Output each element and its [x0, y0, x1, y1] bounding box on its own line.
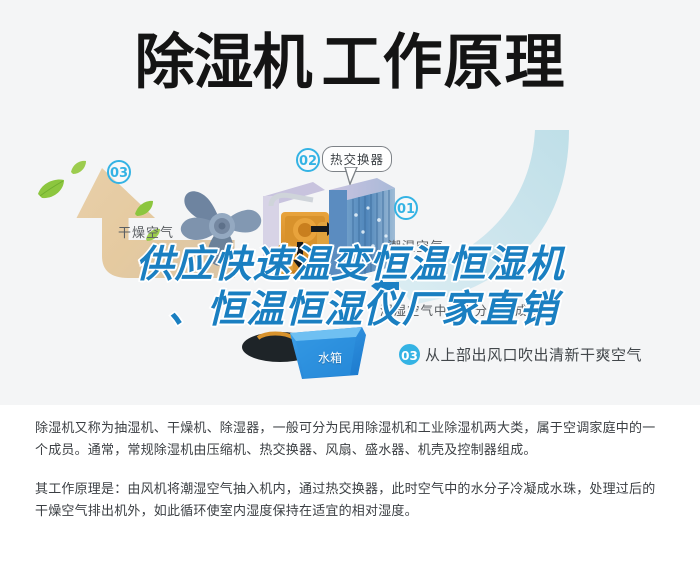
badge-step-01: 01 — [394, 196, 418, 220]
callout-pointer-icon — [344, 167, 358, 185]
leaf-icon — [70, 160, 87, 175]
label-dry-air: 干燥空气 — [118, 222, 174, 241]
illustration-panel: 除湿机工作原理 — [0, 0, 700, 405]
page-title: 除湿机工作原理 — [0, 28, 700, 98]
leaf-icon — [134, 200, 154, 217]
label-humid-air: 潮湿空气 — [388, 236, 444, 255]
page-title-part1: 除湿机 — [135, 28, 312, 98]
badge-step-03-left: 03 — [107, 160, 131, 184]
compressor-icon — [255, 170, 400, 305]
bottom-caption: 从上部出风口吹出清新干爽空气 — [425, 344, 642, 365]
intake-arrow-icon — [371, 277, 399, 295]
page-root: 除湿机工作原理 — [0, 0, 700, 566]
badge-step-03-bottom: 03 — [399, 344, 420, 365]
body-paragraph-1: 除湿机又称为抽湿机、干燥机、除湿器，一般可分为民用除湿机和工业除湿机两大类，属于… — [35, 418, 667, 462]
label-condensation: 潮湿空气中的水分子凝成水珠 — [380, 300, 556, 319]
badge-step-02: 02 — [296, 148, 320, 172]
leaf-icon — [36, 178, 66, 200]
page-title-part2: 工作原理 — [322, 28, 566, 98]
body-paragraph-2: 其工作原理是：由风机将潮湿空气抽入机内，通过热交换器，此时空气中的水分子冷凝成水… — [35, 479, 667, 523]
label-water-tank: 水箱 — [318, 349, 342, 366]
body-copy: 除湿机又称为抽湿机、干燥机、除湿器，一般可分为民用除湿机和工业除湿机两大类，属于… — [35, 418, 667, 523]
